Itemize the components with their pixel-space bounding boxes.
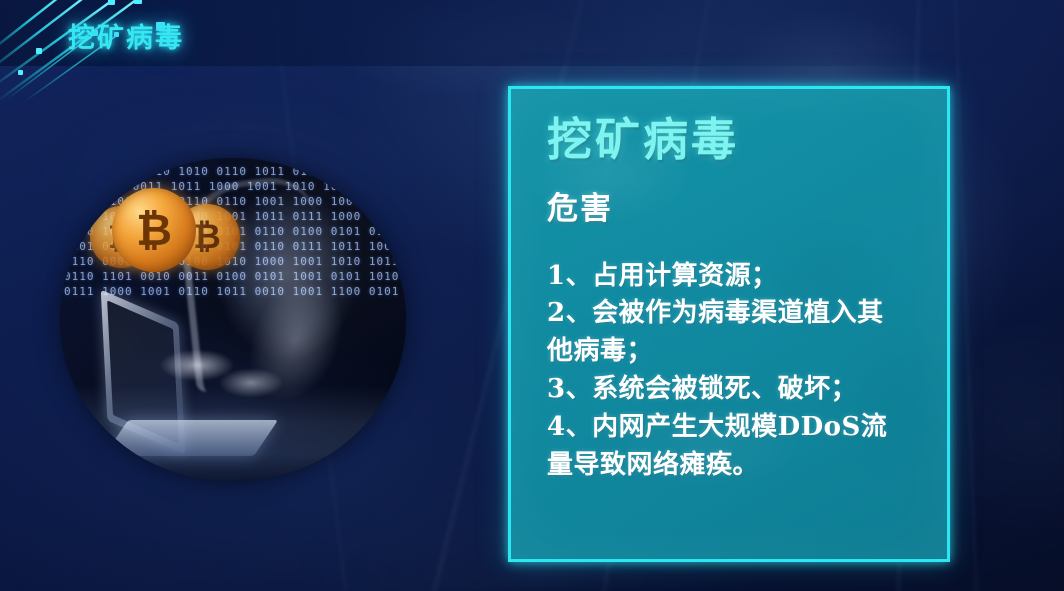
list-item: 3、系统会被锁死、破坏； (547, 371, 925, 408)
slide-canvas: 挖矿病毒 10100 10001 10 1010 0110 1011 0100 … (0, 0, 1064, 591)
bitcoin-coins-group: ₿ ₿ ₿ (82, 182, 232, 292)
panel-title: 挖矿病毒 (547, 115, 925, 165)
list-item: 1、占用计算资源； (547, 258, 925, 295)
info-panel: 挖矿病毒 危害 1、占用计算资源； 2、会被作为病毒渠道植入其 他病毒； 3、系… (508, 86, 950, 562)
panel-subtitle: 危害 (547, 183, 925, 228)
bitcoin-coin-icon: ₿ (112, 188, 196, 272)
page-title: 挖矿病毒 (68, 16, 184, 55)
panel-content: 挖矿病毒 危害 1、占用计算资源； 2、会被作为病毒渠道植入其 他病毒； 3、系… (511, 89, 947, 559)
header-bar: 挖矿病毒 (0, 0, 1064, 66)
list-item: 量导致网络瘫痪。 (547, 447, 925, 484)
harm-list: 1、占用计算资源； 2、会被作为病毒渠道植入其 他病毒； 3、系统会被锁死、破坏… (547, 258, 925, 484)
photo-reflection-glare (60, 386, 406, 482)
list-item: 4、内网产生大规模DDoS流 (547, 409, 925, 446)
list-item: 2、会被作为病毒渠道植入其 (547, 295, 925, 332)
hacker-photo-circle: 10100 10001 10 1010 0110 1011 0100 10 01… (60, 158, 406, 482)
list-item: 他病毒； (547, 333, 925, 370)
